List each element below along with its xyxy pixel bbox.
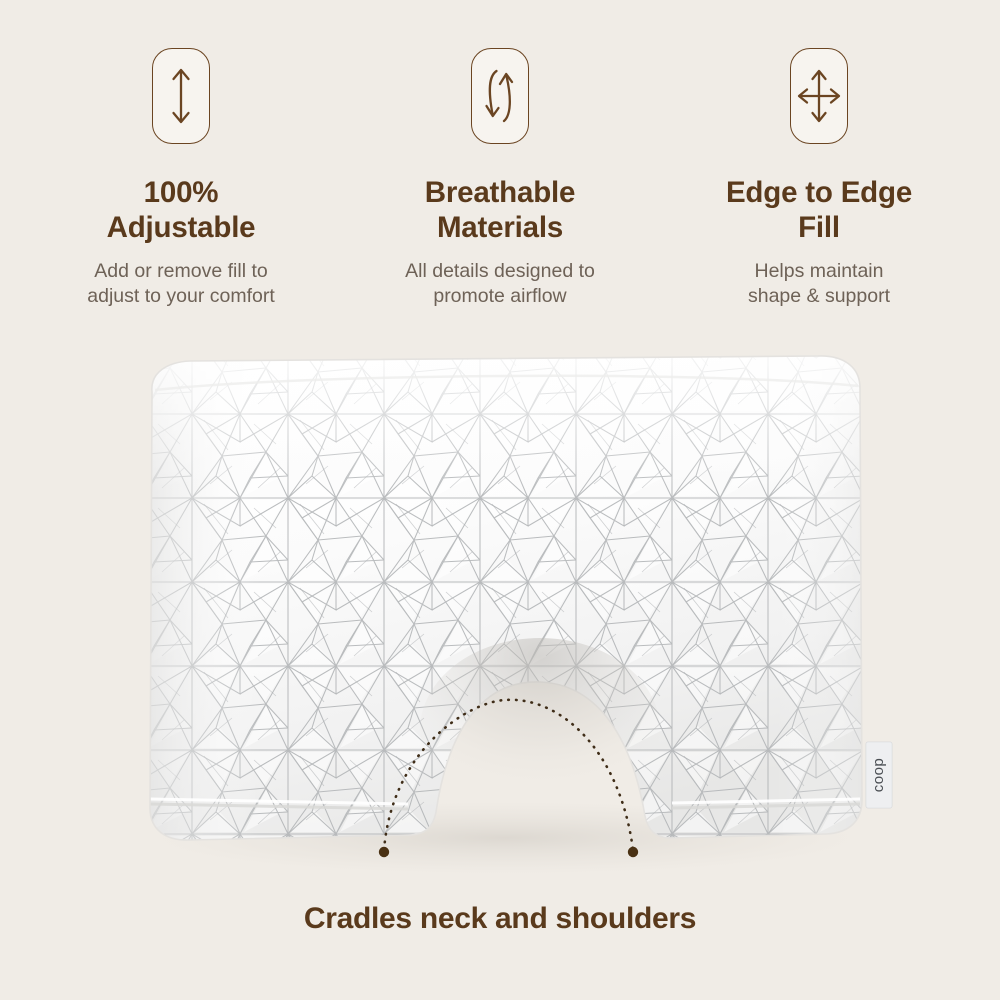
feature-edge-to-edge: Edge to Edge Fill Helps maintain shape &… (660, 0, 978, 309)
brand-tag-label: coop (870, 758, 887, 793)
feature-row: 100% Adjustable Add or remove fill to ad… (0, 0, 1000, 330)
cutout-shadow (420, 638, 660, 822)
brand-tag: coop (866, 742, 892, 808)
feature-breathable: Breathable Materials All details designe… (341, 0, 659, 309)
feature-title: Edge to Edge Fill (726, 175, 912, 245)
feature-subtitle: All details designed to promote airflow (405, 259, 595, 309)
annotation-endpoint-left (379, 847, 389, 857)
feature-adjustable: 100% Adjustable Add or remove fill to ad… (22, 0, 340, 309)
feature-subtitle: Add or remove fill to adjust to your com… (87, 259, 275, 309)
annotation-endpoint-right (628, 847, 638, 857)
product-image-stage: coop (0, 330, 1000, 890)
four-way-arrow-icon (790, 48, 848, 144)
vertical-double-arrow-icon (152, 48, 210, 144)
feature-title: 100% Adjustable (107, 175, 256, 245)
feature-subtitle: Helps maintain shape & support (748, 259, 890, 309)
product-caption: Cradles neck and shoulders (0, 902, 1000, 936)
feature-title: Breathable Materials (425, 175, 575, 245)
airflow-arrows-icon (471, 48, 529, 144)
